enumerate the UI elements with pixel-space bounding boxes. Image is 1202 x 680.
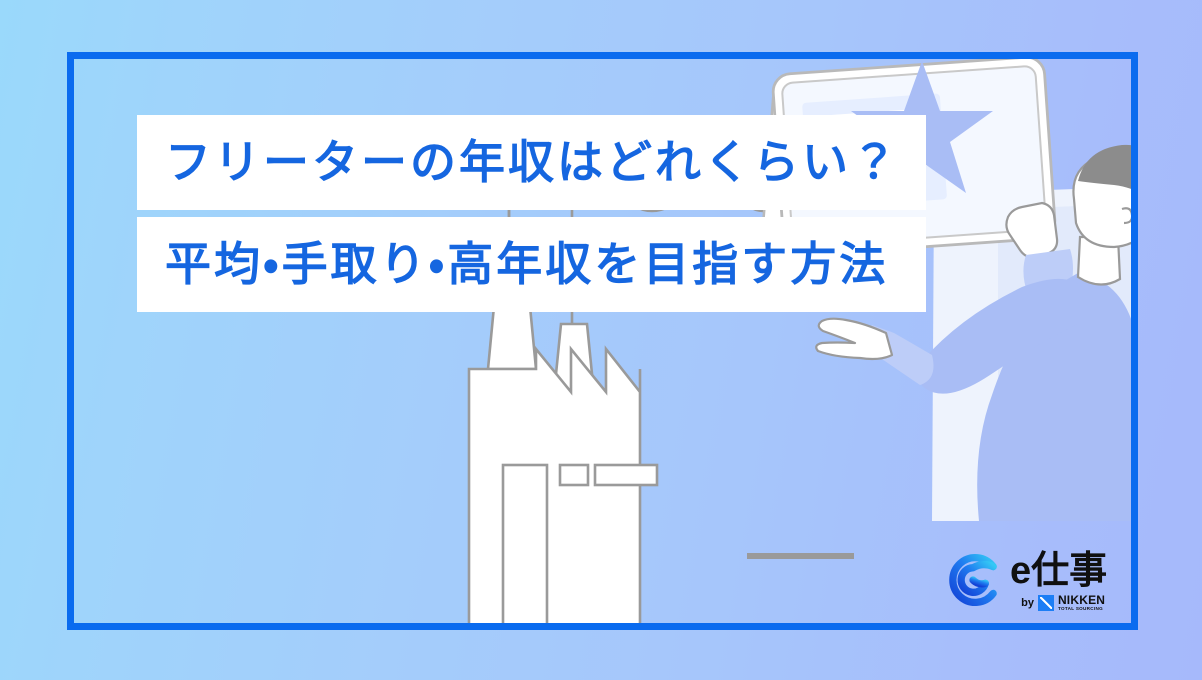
- title-group: フリーターの年収はどれくらい？ 平均・手取り・高年収を目指す方法: [137, 115, 926, 312]
- nikken-name: NIKKEN: [1058, 594, 1105, 606]
- logo-wordmark: e仕事: [1010, 552, 1107, 592]
- e-swirl-logo-icon: [945, 552, 1001, 608]
- nikken-mark-icon: [1038, 595, 1054, 611]
- thumbnail-canvas: フリーターの年収はどれくらい？ 平均・手取り・高年収を目指す方法: [0, 0, 1202, 680]
- logo-by-label: by: [1021, 597, 1034, 609]
- e-shigoto-logo[interactable]: e仕事 by NIKKEN TOTAL SOURCING: [945, 552, 1131, 623]
- frame-inner-area: フリーターの年収はどれくらい？ 平均・手取り・高年収を目指す方法: [74, 59, 1131, 623]
- title-line-2: 平均・手取り・高年収を目指す方法: [137, 217, 926, 312]
- logo-text-block: e仕事 by NIKKEN TOTAL SOURCING: [1010, 552, 1107, 611]
- person-near-hand: [816, 319, 892, 359]
- title-line-1: フリーターの年収はどれくらい？: [137, 115, 926, 210]
- logo-parent-brand-row: by NIKKEN TOTAL SOURCING: [1021, 594, 1105, 612]
- factory-icon: [469, 275, 657, 623]
- nikken-tagline: TOTAL SOURCING: [1058, 607, 1105, 612]
- nikken-text-block: NIKKEN TOTAL SOURCING: [1058, 594, 1105, 612]
- blue-frame-border: フリーターの年収はどれくらい？ 平均・手取り・高年収を目指す方法: [67, 52, 1138, 630]
- ground-dash: [747, 553, 854, 559]
